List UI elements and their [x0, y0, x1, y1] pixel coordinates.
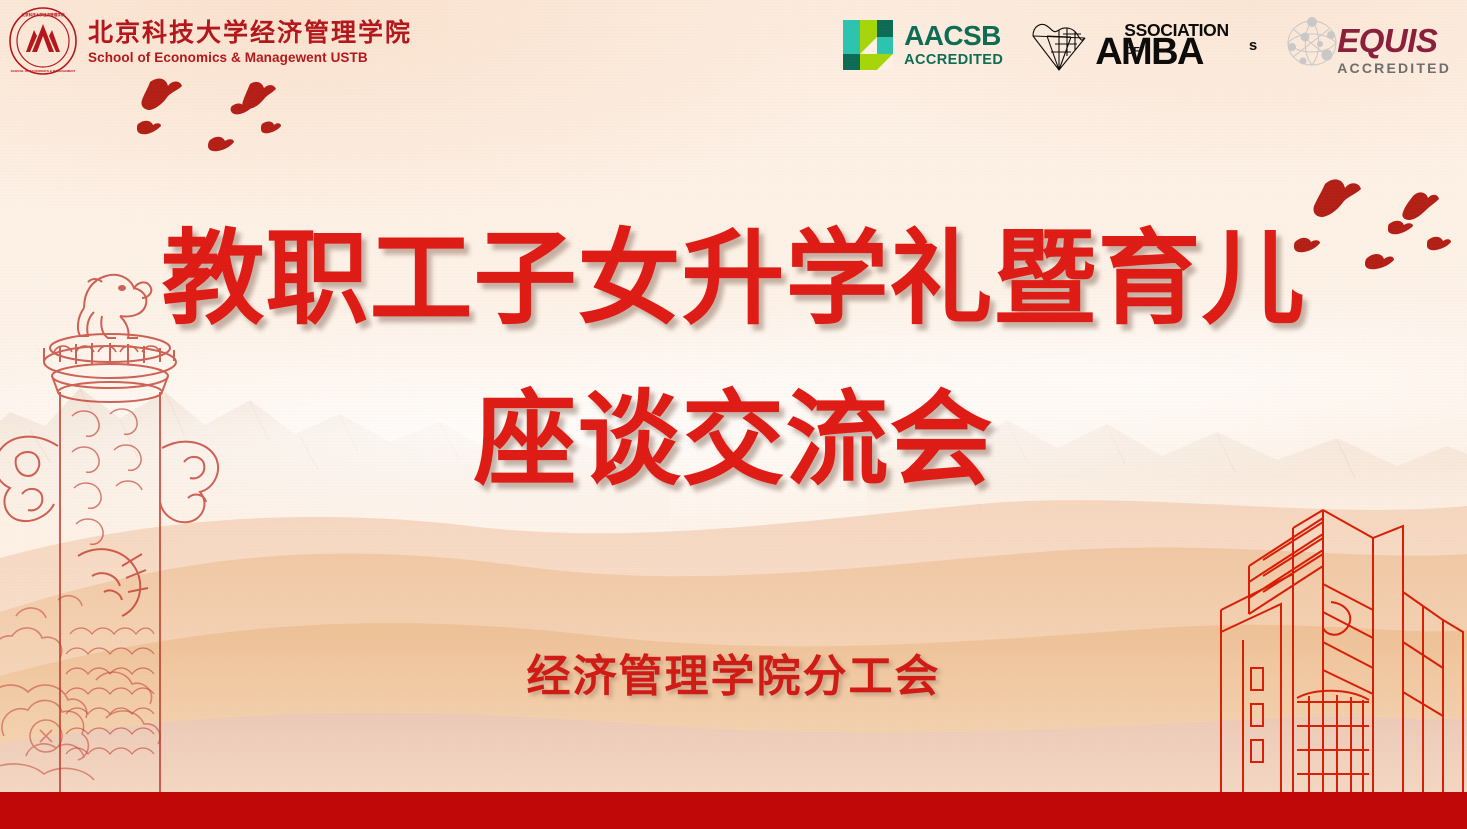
accreditation-amba: SSOCIATION OF AMBA s	[1029, 16, 1257, 74]
title-line-2: 座谈交流会	[0, 389, 1467, 492]
university-name-cn: 北京科技大学经济管理学院	[88, 19, 412, 47]
watercolor-hills-icon	[0, 462, 1467, 792]
aacsb-mosaic-icon	[841, 18, 895, 72]
amba-text: SSOCIATION OF AMBA s	[1095, 18, 1257, 72]
bottom-red-bar	[0, 792, 1467, 829]
accreditation-equis: EQUIS ACCREDITED	[1283, 14, 1451, 75]
amba-name: AMBA	[1095, 33, 1203, 71]
accreditation-aacsb: AACSB ACCREDITED	[841, 18, 1003, 72]
university-name-en: School of Economics & Managewent USTB	[88, 50, 412, 65]
aacsb-status: ACCREDITED	[904, 53, 1003, 68]
equis-network-icon	[1283, 17, 1341, 73]
svg-text:北京科技大学经济管理学院: 北京科技大学经济管理学院	[21, 12, 65, 17]
aacsb-text: AACSB ACCREDITED	[904, 22, 1003, 68]
university-seal-icon: 北京科技大学经济管理学院 SCHOOL OF ECONOMICS & MANAG…	[8, 6, 78, 76]
university-name-block: 北京科技大学经济管理学院 School of Economics & Manag…	[88, 19, 412, 65]
equis-text: EQUIS ACCREDITED	[1337, 24, 1451, 75]
university-brand: 北京科技大学经济管理学院 SCHOOL OF ECONOMICS & MANAG…	[8, 6, 412, 76]
aacsb-name: AACSB	[904, 22, 1003, 50]
equis-name: EQUIS	[1337, 24, 1451, 57]
title-block: 教职工子女升学礼暨育儿 座谈交流会	[0, 228, 1467, 492]
slide-header: 北京科技大学经济管理学院 SCHOOL OF ECONOMICS & MANAG…	[0, 0, 1467, 96]
amba-plural-suffix: s	[1249, 37, 1257, 54]
subtitle: 经济管理学院分工会	[0, 640, 1467, 704]
accreditation-logos: AACSB ACCREDITED	[841, 14, 1451, 75]
equis-status: ACCREDITED	[1337, 61, 1451, 75]
svg-text:SCHOOL OF ECONOMICS & MANAGEME: SCHOOL OF ECONOMICS & MANAGEMENT	[11, 69, 76, 73]
title-line-1: 教职工子女升学礼暨育儿	[0, 228, 1467, 331]
presentation-slide: 北京科技大学经济管理学院 SCHOOL OF ECONOMICS & MANAG…	[0, 0, 1467, 829]
amba-diamond-icon	[1029, 16, 1089, 74]
